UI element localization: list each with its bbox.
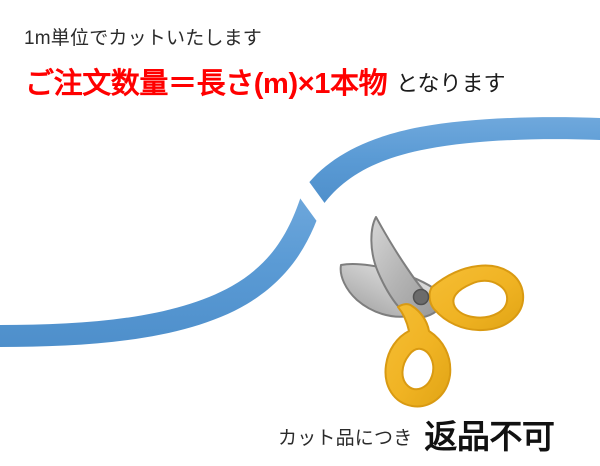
scissors-pivot-screw xyxy=(414,290,429,305)
headline-line-2-black: となります xyxy=(396,71,505,96)
scissors-handle-lower xyxy=(386,304,451,406)
footer-notice-emphasis: 返品不可 xyxy=(424,418,554,455)
cut-service-notice-graphic: 1m単位でカットいたします ご注文数量＝長さ(m)×1本物となります カット品に… xyxy=(0,0,600,466)
footer-notice-note: カット品につき xyxy=(278,428,412,449)
headline-line-2-red: ご注文数量＝長さ(m)×1本物 xyxy=(25,68,387,100)
cable-segment-left xyxy=(0,190,325,347)
headline-line-1: 1m単位でカットいたします xyxy=(24,29,262,48)
cable-segment-right xyxy=(303,117,600,205)
scissors-handle-right xyxy=(430,266,524,331)
footer-notice: カット品につき返品不可 xyxy=(278,420,554,453)
headline-line-2: ご注文数量＝長さ(m)×1本物となります xyxy=(25,70,506,99)
scissors xyxy=(341,217,523,406)
